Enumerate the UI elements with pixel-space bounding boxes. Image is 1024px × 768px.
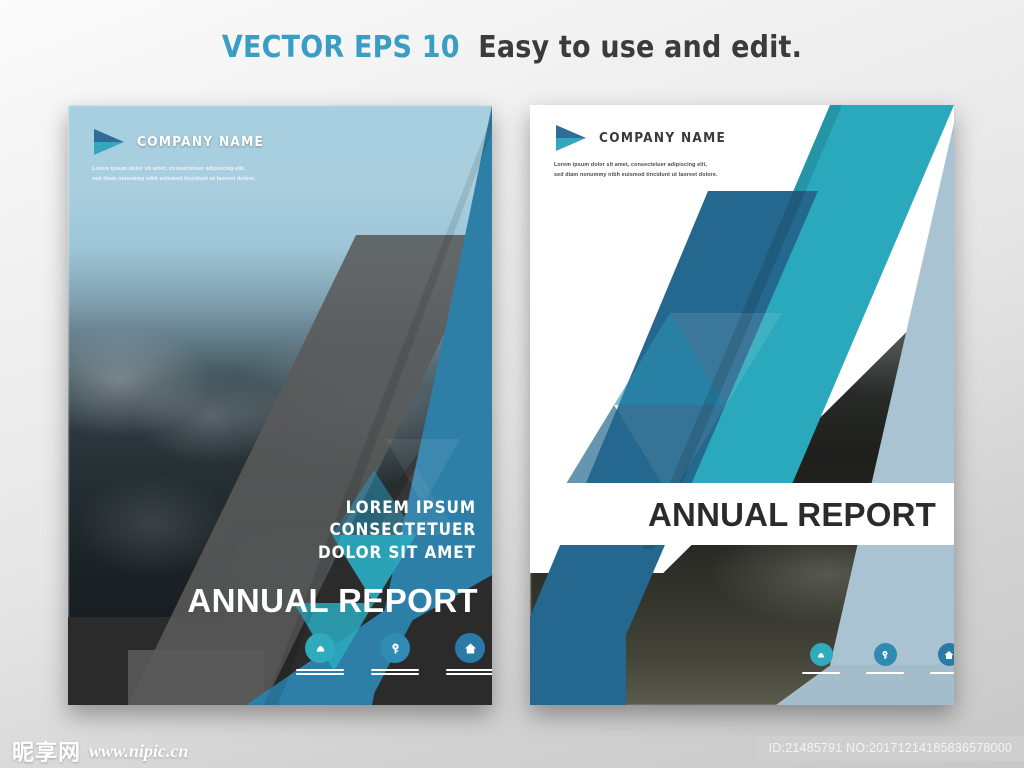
- watermark: 昵享网 www.nipic.cn: [12, 735, 188, 767]
- placeholder-line: [446, 669, 492, 671]
- poster-left-subtitle: LOREM IPSUM CONSECTETUER DOLOR SIT AMET: [176, 497, 476, 564]
- play-triangle-logo-icon: [92, 127, 126, 157]
- placeholder-line: [296, 673, 344, 675]
- home-icon: [938, 643, 955, 666]
- poster-right-icon-row: [802, 643, 954, 674]
- poster-left-icon-item-1[interactable]: [296, 633, 344, 675]
- placeholder-line: [371, 669, 419, 671]
- poster-left-icon-item-3[interactable]: [446, 633, 492, 675]
- poster-right-icon-item-1[interactable]: [802, 643, 840, 674]
- poster-right-icon-item-2[interactable]: [866, 643, 904, 674]
- play-triangle-logo-icon: [554, 123, 588, 153]
- header-tagline: Easy to use and edit.: [478, 30, 802, 65]
- placeholder-line: [446, 673, 492, 675]
- poster-right-body-text: Lorem ipsum dolor sit amet, consectetuer…: [554, 160, 874, 180]
- poster-right-title-banner: ANNUAL REPORT: [530, 483, 954, 545]
- poster-right-main-title: ANNUAL REPORT: [648, 496, 936, 534]
- page-header: VECTOR EPS 10 Easy to use and edit.: [0, 30, 1024, 65]
- poster-left-icon-lines-1: [296, 669, 344, 675]
- poster-left-subtitle-line1: LOREM IPSUM: [176, 497, 476, 519]
- watermark-logo-text: 昵享网: [12, 735, 81, 767]
- poster-left-subtitle-line3: DOLOR SIT AMET: [176, 542, 476, 564]
- placeholder-line: [296, 669, 344, 671]
- poster-left-body-line2: sed diam nonummy nibh euismod tincidunt …: [92, 174, 412, 184]
- poster-right-body-line1: Lorem ipsum dolor sit amet, consectetuer…: [554, 160, 874, 170]
- poster-left-icon-lines-3: [446, 669, 492, 675]
- poster-right-icon-lines-1: [802, 672, 840, 674]
- poster-right-icon-lines-2: [866, 672, 904, 674]
- poster-left-main-title: ANNUAL REPORT: [148, 582, 478, 620]
- poster-left-subtitle-line2: CONSECTETUER: [176, 519, 476, 541]
- poster-right-body-line2: sed diam nonummy nibh euismod tincidunt …: [554, 170, 874, 180]
- cloud-icon: [810, 643, 833, 666]
- placeholder-line: [371, 673, 419, 675]
- poster-left-body-line1: Lorem ipsum dolor sit amet, consectetuer…: [92, 164, 412, 174]
- poster-left-body-text: Lorem ipsum dolor sit amet, consectetuer…: [92, 164, 412, 184]
- home-icon: [455, 633, 485, 663]
- poster-right[interactable]: COMPANY NAME Lorem ipsum dolor sit amet,…: [530, 105, 954, 705]
- poster-right-icon-lines-3: [930, 672, 954, 674]
- key-icon: [874, 643, 897, 666]
- placeholder-line: [866, 672, 904, 674]
- watermark-url: www.nipic.cn: [89, 741, 188, 762]
- poster-left-icon-lines-2: [371, 669, 419, 675]
- image-id-badge: ID:21485791 NO:20171214185836578000: [757, 736, 1024, 761]
- poster-left-icon-row: [296, 633, 492, 675]
- poster-left-brand: COMPANY NAME Lorem ipsum dolor sit amet,…: [92, 127, 412, 184]
- poster-left-company-name: COMPANY NAME: [137, 134, 264, 150]
- placeholder-line: [930, 672, 954, 674]
- poster-left-icon-item-2[interactable]: [371, 633, 419, 675]
- key-icon: [380, 633, 410, 663]
- placeholder-line: [802, 672, 840, 674]
- poster-right-company-name: COMPANY NAME: [599, 130, 726, 146]
- cloud-icon: [305, 633, 335, 663]
- poster-right-icon-item-3[interactable]: [930, 643, 954, 674]
- header-vector-label: VECTOR EPS 10: [222, 30, 460, 65]
- poster-left[interactable]: COMPANY NAME Lorem ipsum dolor sit amet,…: [68, 105, 492, 705]
- poster-right-shapes: [530, 105, 954, 705]
- poster-right-brand: COMPANY NAME Lorem ipsum dolor sit amet,…: [554, 123, 874, 180]
